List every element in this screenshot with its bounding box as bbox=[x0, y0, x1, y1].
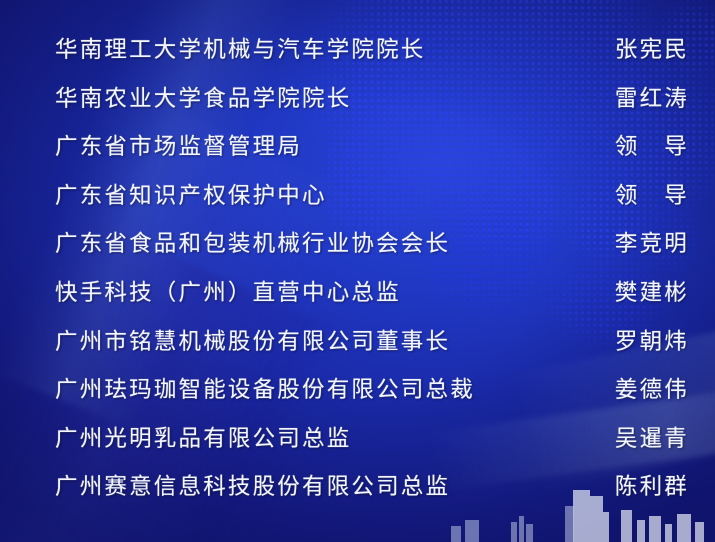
organization-title: 广州市铭慧机械股份有限公司董事长 bbox=[55, 324, 450, 356]
person-name: 领 导 bbox=[615, 178, 689, 210]
person-name: 张宪民 bbox=[615, 32, 689, 64]
organization-title: 广东省市场监督管理局 bbox=[55, 129, 302, 161]
organization-title: 华南理工大学机械与汽车学院院长 bbox=[55, 32, 426, 64]
organization-title: 广州珐玛珈智能设备股份有限公司总裁 bbox=[55, 372, 475, 404]
organization-title: 华南农业大学食品学院院长 bbox=[55, 81, 351, 113]
list-item: 广东省食品和包装机械行业协会会长 李竞明 bbox=[0, 226, 715, 275]
list-item: 广州市铭慧机械股份有限公司董事长 罗朝炜 bbox=[0, 324, 715, 373]
list-item: 广东省市场监督管理局 领 导 bbox=[0, 129, 715, 178]
guest-list: 华南理工大学机械与汽车学院院长 张宪民 华南农业大学食品学院院长 雷红涛 广东省… bbox=[0, 0, 715, 542]
person-name: 樊建彬 bbox=[615, 275, 689, 307]
list-item: 广州光明乳品有限公司总监 吴暹青 bbox=[0, 421, 715, 470]
list-item: 广州赛意信息科技股份有限公司总监 陈利群 bbox=[0, 469, 715, 518]
organization-title: 广东省知识产权保护中心 bbox=[55, 178, 327, 210]
organization-title: 广州光明乳品有限公司总监 bbox=[55, 421, 351, 453]
list-item: 广东省知识产权保护中心 领 导 bbox=[0, 178, 715, 227]
person-name: 雷红涛 bbox=[615, 81, 689, 113]
person-name: 李竞明 bbox=[615, 226, 689, 258]
organization-title: 广州赛意信息科技股份有限公司总监 bbox=[55, 469, 450, 501]
person-name: 领 导 bbox=[615, 129, 689, 161]
list-item: 华南农业大学食品学院院长 雷红涛 bbox=[0, 81, 715, 130]
presentation-slide: 华南理工大学机械与汽车学院院长 张宪民 华南农业大学食品学院院长 雷红涛 广东省… bbox=[0, 0, 715, 542]
organization-title: 快手科技（广州）直营中心总监 bbox=[55, 275, 401, 307]
list-item: 华南理工大学机械与汽车学院院长 张宪民 bbox=[0, 32, 715, 81]
list-item: 广州珐玛珈智能设备股份有限公司总裁 姜德伟 bbox=[0, 372, 715, 421]
person-name: 罗朝炜 bbox=[615, 324, 689, 356]
organization-title: 广东省食品和包装机械行业协会会长 bbox=[55, 226, 450, 258]
list-item: 快手科技（广州）直营中心总监 樊建彬 bbox=[0, 275, 715, 324]
person-name: 陈利群 bbox=[615, 469, 689, 501]
person-name: 吴暹青 bbox=[615, 421, 689, 453]
person-name: 姜德伟 bbox=[615, 372, 689, 404]
